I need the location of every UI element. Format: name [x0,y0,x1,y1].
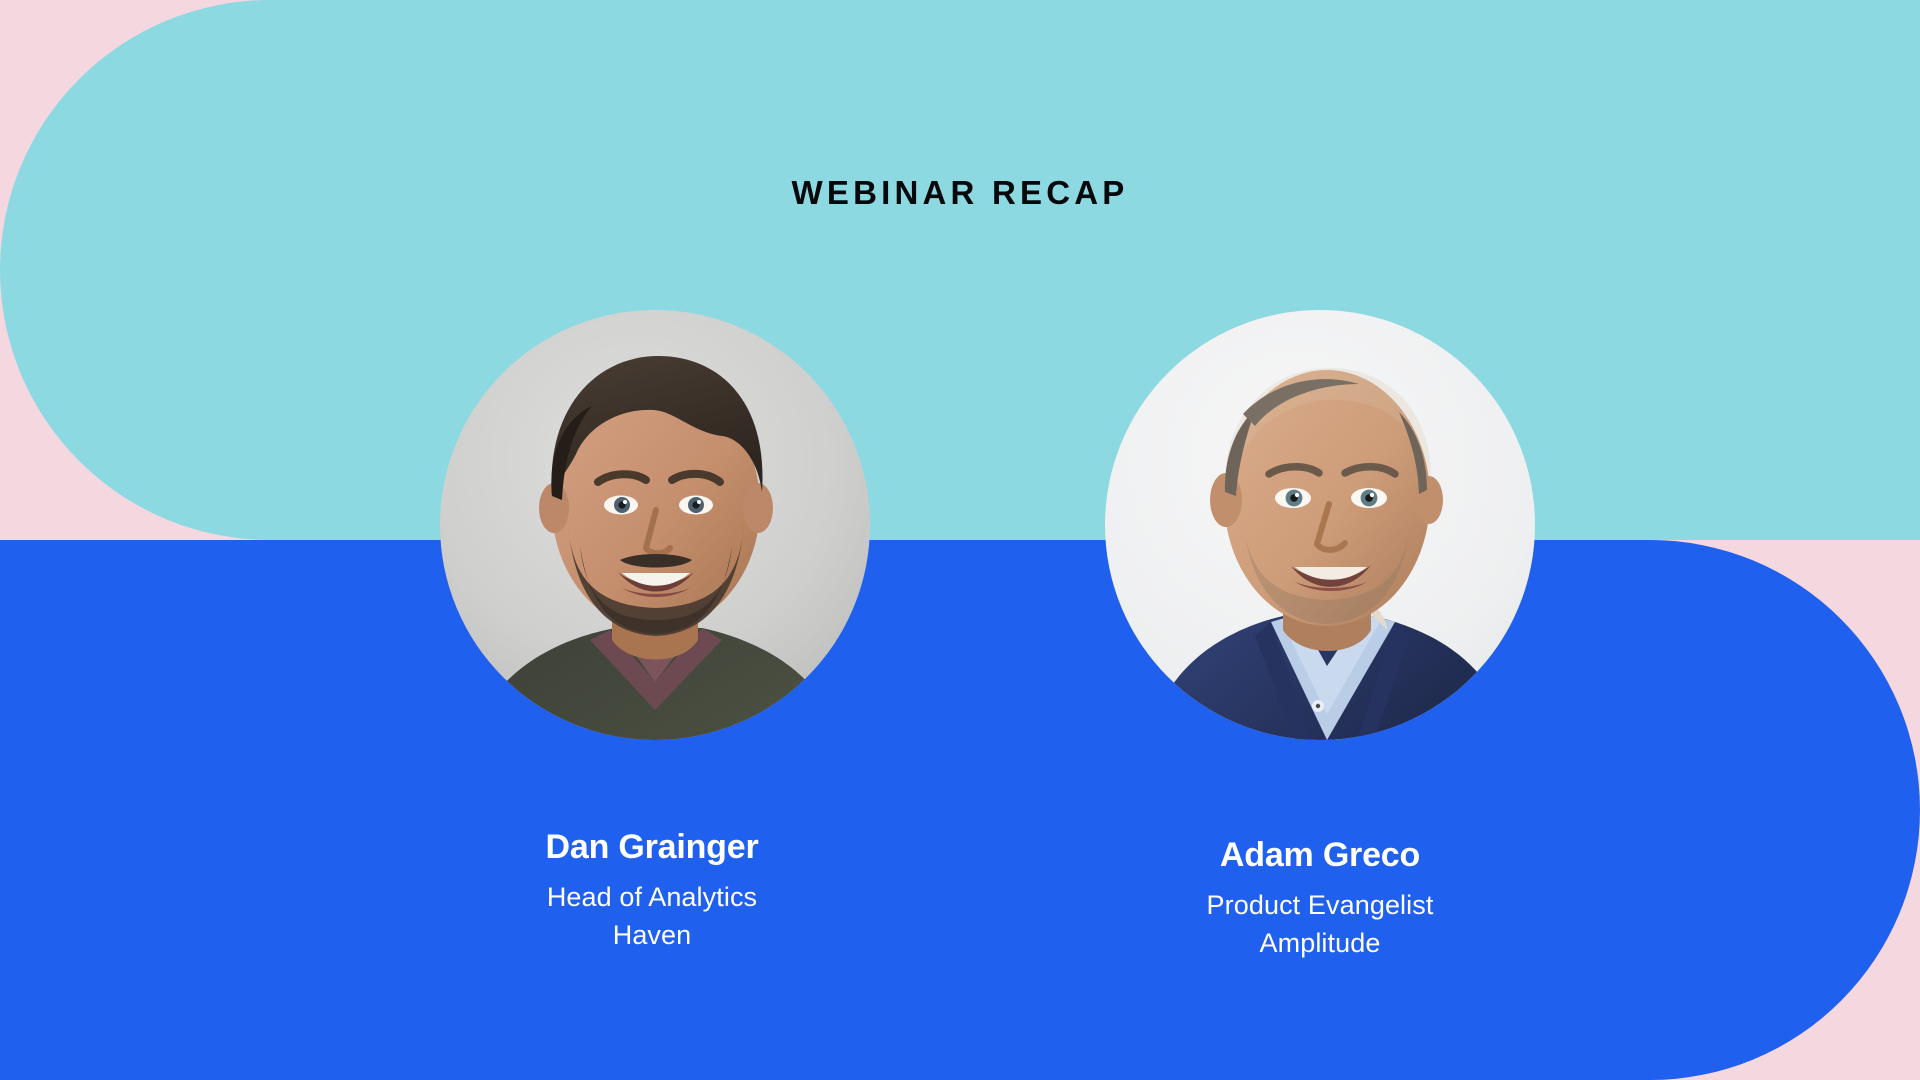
speaker-org: Amplitude [1040,925,1600,962]
speaker-meta: Dan Grainger Head of Analytics Haven [372,740,932,954]
slide-canvas: WEBINAR RECAP [0,0,1920,1080]
blue-background-shape [0,540,1920,1080]
speaker-name: Adam Greco [1040,836,1600,875]
speaker-meta: Adam Greco Product Evangelist Amplitude [1040,740,1600,962]
teal-background-shape [0,0,1920,540]
speaker-name: Dan Grainger [372,828,932,867]
avatar [1105,310,1535,740]
page-title: WEBINAR RECAP [0,176,1920,209]
speaker-role: Head of Analytics [372,879,932,916]
speaker-card-dan-grainger: Dan Grainger Head of Analytics Haven [372,310,932,954]
speaker-org: Haven [372,917,932,954]
avatar [440,310,870,740]
speaker-card-adam-greco: Adam Greco Product Evangelist Amplitude [1040,310,1600,962]
speaker-role: Product Evangelist [1040,887,1600,924]
